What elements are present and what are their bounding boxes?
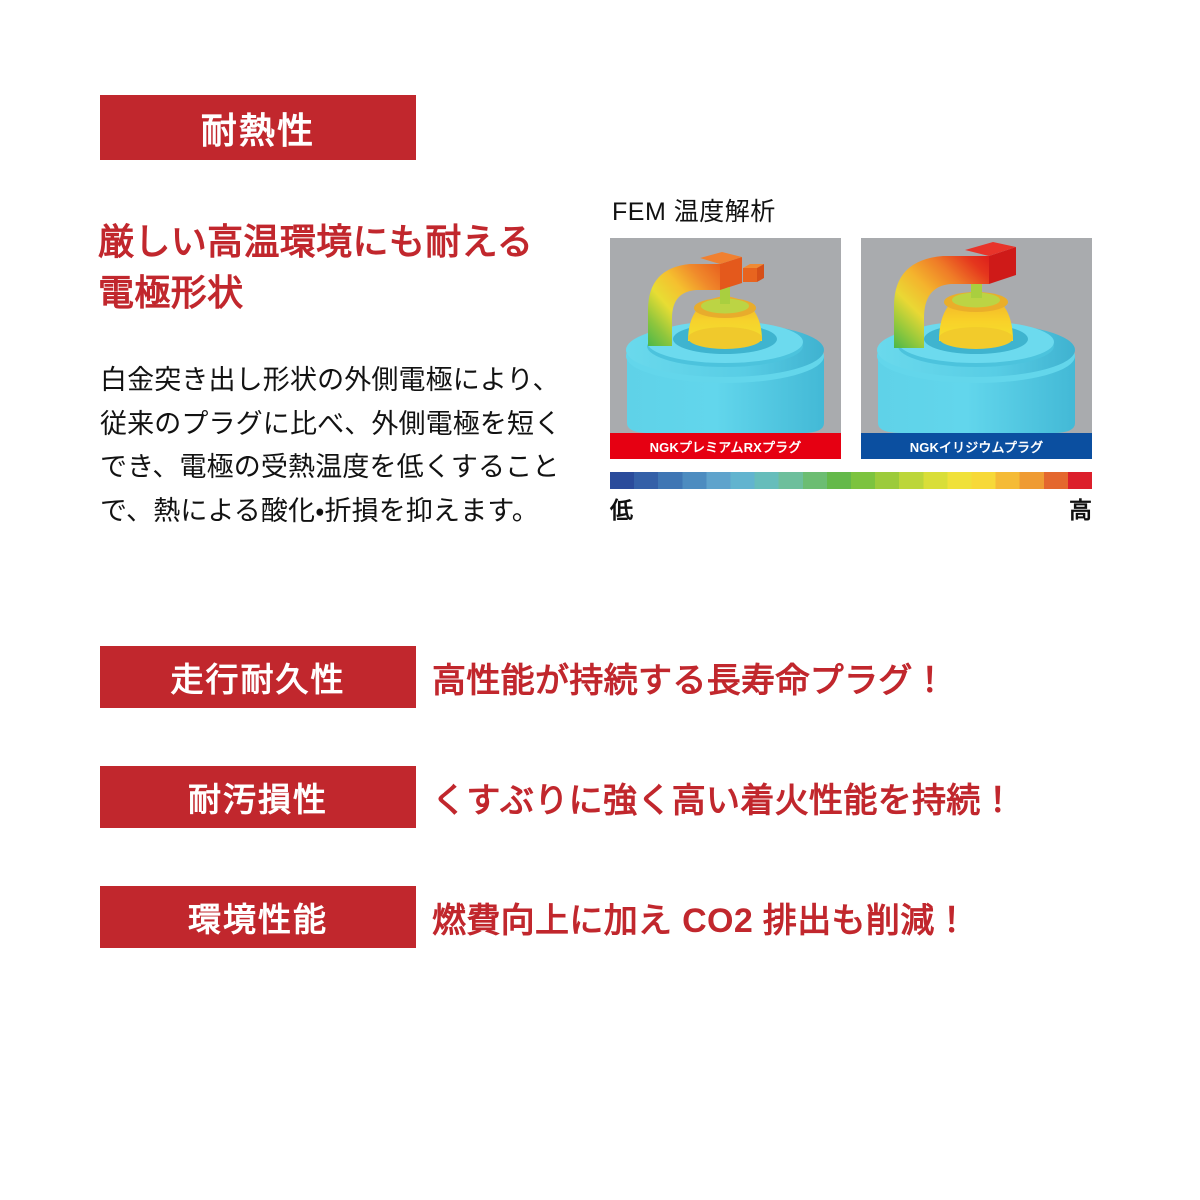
fem-panel-premium-rx: NGKプレミアムRXプラグ	[610, 238, 841, 459]
feature-rows-section: 走行耐久性 高性能が持続する長寿命プラグ！ 耐汚損性 くすぶりに強く高い着火性能…	[0, 646, 1200, 1006]
heat-resistance-badge-label: 耐熱性	[201, 102, 315, 154]
feature-badge-driving-durability: 走行耐久性	[100, 646, 416, 708]
spark-plug-thermal-render-iridium	[861, 238, 1092, 433]
temperature-color-bar	[610, 472, 1092, 489]
feature-text-driving-durability: 高性能が持続する長寿命プラグ！	[432, 646, 947, 708]
fem-panel-group: NGKプレミアムRXプラグ	[610, 238, 1092, 459]
spark-plug-thermal-render-rx	[610, 238, 841, 433]
temperature-scale: 低 高	[610, 472, 1092, 521]
feature-text-environmental-performance: 燃費向上に加え CO2 排出も削減！	[432, 886, 969, 948]
fem-caption: FEM 温度解析	[612, 200, 1092, 225]
heat-resistance-headline: 厳しい高温環境にも耐える 電極形状	[98, 216, 618, 318]
fem-panel-iridium: NGKイリジウムプラグ	[861, 238, 1092, 459]
feature-row-fouling-resistance: 耐汚損性 くすぶりに強く高い着火性能を持続！	[0, 766, 1200, 886]
feature-row-driving-durability: 走行耐久性 高性能が持続する長寿命プラグ！	[0, 646, 1200, 766]
heat-resistance-section: 耐熱性 厳しい高温環境にも耐える 電極形状 白金突き出し形状の外側電極により、 …	[0, 0, 1200, 560]
feature-row-environmental-performance: 環境性能 燃費向上に加え CO2 排出も削減！	[0, 886, 1200, 1006]
feature-badge-label: 環境性能	[188, 893, 328, 941]
fem-analysis-block: FEM 温度解析	[610, 200, 1092, 521]
feature-badge-label: 走行耐久性	[171, 653, 346, 701]
fem-label-iridium: NGKイリジウムプラグ	[861, 433, 1092, 459]
feature-sheet-page: 耐熱性 厳しい高温環境にも耐える 電極形状 白金突き出し形状の外側電極により、 …	[0, 0, 1200, 1200]
fem-label-premium-rx: NGKプレミアムRXプラグ	[610, 433, 841, 459]
temperature-scale-labels: 低 高	[610, 491, 1092, 521]
feature-text-fouling-resistance: くすぶりに強く高い着火性能を持続！	[432, 766, 1015, 828]
feature-badge-label: 耐汚損性	[188, 773, 328, 821]
feature-badge-fouling-resistance: 耐汚損性	[100, 766, 416, 828]
body-line-2: 従来のプラグに比べ、外側電極を短く	[100, 403, 600, 447]
heat-resistance-body: 白金突き出し形状の外側電極により、 従来のプラグに比べ、外側電極を短く でき、電…	[100, 359, 600, 534]
body-line-3: でき、電極の受熱温度を低くすること	[100, 446, 600, 490]
feature-badge-environmental-performance: 環境性能	[100, 886, 416, 948]
fem-image-iridium	[861, 238, 1092, 433]
headline-line-2: 電極形状	[98, 267, 618, 318]
body-line-1: 白金突き出し形状の外側電極により、	[100, 359, 600, 403]
scale-label-low: 低	[610, 491, 633, 525]
heat-resistance-badge: 耐熱性	[100, 95, 416, 160]
body-line-4: で、熱による酸化・折損を抑えます。	[100, 490, 600, 534]
fem-image-premium-rx	[610, 238, 841, 433]
scale-label-high: 高	[1069, 491, 1092, 525]
headline-line-1: 厳しい高温環境にも耐える	[98, 216, 618, 267]
